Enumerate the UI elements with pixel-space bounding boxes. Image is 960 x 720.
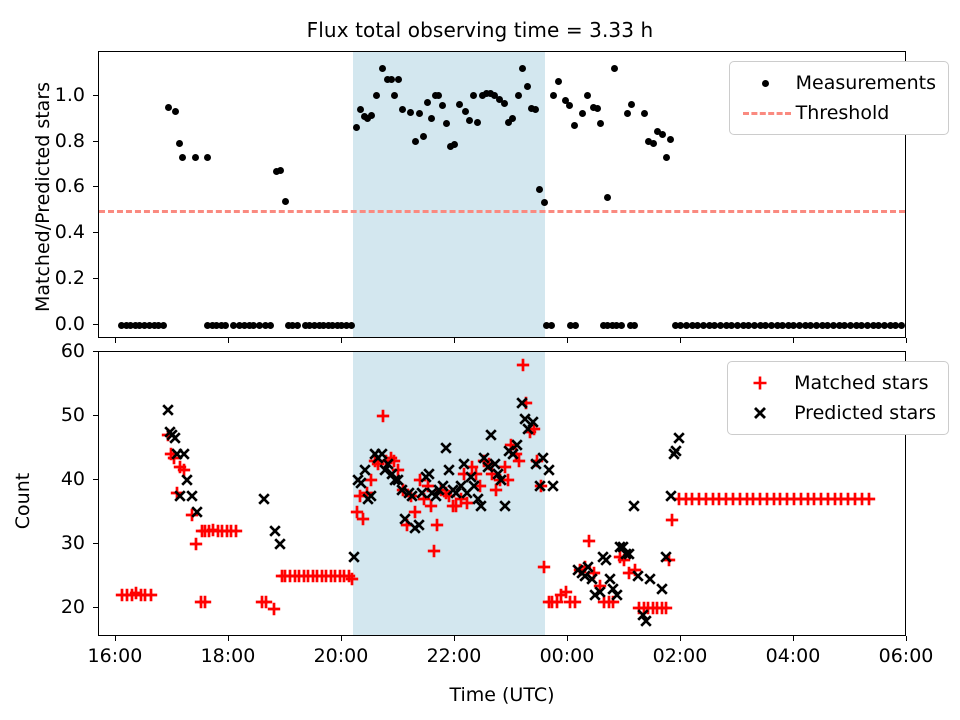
measurement-point-zero	[222, 322, 229, 329]
x-tick-mark-top-panel	[680, 338, 681, 343]
x-tick-mark-top-panel	[567, 338, 568, 343]
y-tick-mark	[93, 543, 98, 544]
measurement-point	[650, 140, 657, 147]
measurement-point-zero	[572, 322, 579, 329]
x-tick-label: 00:00	[540, 645, 595, 667]
x-tick-mark	[341, 636, 342, 641]
y-tick-mark	[93, 232, 98, 233]
legend-label-threshold: Threshold	[796, 102, 890, 124]
y-tick-mark	[93, 324, 98, 325]
top-panel-legend: Measurements Threshold	[729, 61, 949, 135]
measurement-point	[628, 101, 635, 108]
measurement-point	[462, 108, 469, 115]
x-tick-label: 06:00	[879, 645, 934, 667]
page-title: Flux total observing time = 3.33 h	[0, 18, 960, 42]
measurement-point	[550, 92, 557, 99]
dashed-line-icon	[743, 112, 791, 115]
measurement-point	[624, 110, 631, 117]
y-tick-mark	[93, 479, 98, 480]
legend-label-measurements: Measurements	[796, 72, 936, 94]
measurement-point	[555, 78, 562, 85]
measurement-point	[466, 117, 473, 124]
measurement-point	[179, 154, 186, 161]
measurement-point	[277, 167, 284, 174]
x-tick-mark	[115, 636, 116, 641]
bottom-panel-legend: Matched stars Predicted stars	[727, 361, 949, 435]
x-tick-mark-top-panel	[454, 338, 455, 343]
dot-icon	[762, 80, 769, 87]
measurement-point	[663, 154, 670, 161]
y-tick-mark	[93, 607, 98, 608]
x-tick-label: 20:00	[314, 645, 369, 667]
measurement-point	[443, 120, 450, 127]
x-tick-mark	[567, 636, 568, 641]
measurement-point	[204, 154, 211, 161]
matched-marker-key	[736, 372, 794, 394]
measurement-point	[395, 76, 402, 83]
measurement-point-zero	[618, 322, 625, 329]
legend-item-predicted-stars[interactable]: Predicted stars	[736, 398, 936, 428]
measurement-point	[435, 92, 442, 99]
predicted-marker-key	[736, 402, 794, 424]
plus-icon	[752, 375, 768, 391]
legend-item-threshold[interactable]: Threshold	[738, 98, 936, 128]
measurement-point-zero	[631, 322, 638, 329]
measurement-point	[412, 138, 419, 145]
measurement-point	[659, 131, 666, 138]
legend-label-matched-stars: Matched stars	[794, 372, 928, 394]
measurement-point	[165, 104, 172, 111]
measurement-point	[611, 65, 618, 72]
measurement-point	[571, 122, 578, 129]
measurement-point	[357, 106, 364, 113]
measurement-point-zero	[267, 322, 274, 329]
x-tick-mark-top-panel	[793, 338, 794, 343]
measurement-point	[172, 108, 179, 115]
y-tick-mark	[93, 186, 98, 187]
measurement-point-zero	[160, 322, 167, 329]
measurement-point	[641, 110, 648, 117]
x-tick-label: 18:00	[201, 645, 256, 667]
measurement-point	[379, 65, 386, 72]
cross-icon	[752, 405, 768, 421]
measurement-point-zero	[294, 322, 301, 329]
x-tick-label: 16:00	[88, 645, 143, 667]
measurement-point	[604, 194, 611, 201]
y-tick-mark	[93, 141, 98, 142]
y-tick-mark	[93, 415, 98, 416]
y-tick-mark	[93, 351, 98, 352]
threshold-line	[99, 210, 905, 213]
legend-label-predicted-stars: Predicted stars	[794, 402, 936, 424]
measurement-point	[176, 140, 183, 147]
x-tick-mark	[454, 636, 455, 641]
x-axis-label: Time (UTC)	[98, 684, 906, 706]
measurement-point	[470, 92, 477, 99]
x-tick-label: 02:00	[653, 645, 708, 667]
x-tick-mark	[228, 636, 229, 641]
measurement-point	[541, 199, 548, 206]
y-tick-mark	[93, 95, 98, 96]
measurement-point	[667, 136, 674, 143]
x-tick-mark	[680, 636, 681, 641]
measurement-point	[282, 198, 289, 205]
y-tick-label: 60	[3, 340, 85, 362]
top-panel-y-axis-label: Matched/Predicted stars	[32, 52, 54, 342]
x-tick-label: 22:00	[427, 645, 482, 667]
legend-item-matched-stars[interactable]: Matched stars	[736, 368, 936, 398]
measurement-point-zero	[898, 322, 905, 329]
measurement-point	[594, 105, 601, 112]
x-tick-mark-top-panel	[341, 338, 342, 343]
measurement-point	[597, 120, 604, 127]
measurement-point	[474, 119, 481, 126]
legend-item-measurements[interactable]: Measurements	[738, 68, 936, 98]
measurement-point	[428, 115, 435, 122]
measurement-point-zero	[548, 322, 555, 329]
measurement-point	[532, 106, 539, 113]
x-tick-mark-top-panel	[906, 338, 907, 343]
measurement-point	[515, 92, 522, 99]
measurement-point-zero	[348, 322, 355, 329]
x-tick-mark-top-panel	[228, 338, 229, 343]
threshold-dash-key	[738, 102, 796, 124]
measurement-point	[579, 110, 586, 117]
bottom-panel-y-axis-label: Count	[12, 386, 34, 616]
measurement-point	[584, 92, 591, 99]
figure-canvas: Flux total observing time = 3.33 h 0.00.…	[0, 0, 960, 720]
measurements-marker-key	[738, 72, 796, 94]
x-tick-mark	[793, 636, 794, 641]
measurement-point	[566, 102, 573, 109]
x-tick-label: 04:00	[766, 645, 821, 667]
measurement-point	[519, 65, 526, 72]
y-tick-mark	[93, 278, 98, 279]
measurement-point	[192, 154, 199, 161]
x-tick-mark-top-panel	[115, 338, 116, 343]
measurement-point	[353, 124, 360, 131]
measurement-point	[524, 83, 531, 90]
x-tick-mark	[906, 636, 907, 641]
